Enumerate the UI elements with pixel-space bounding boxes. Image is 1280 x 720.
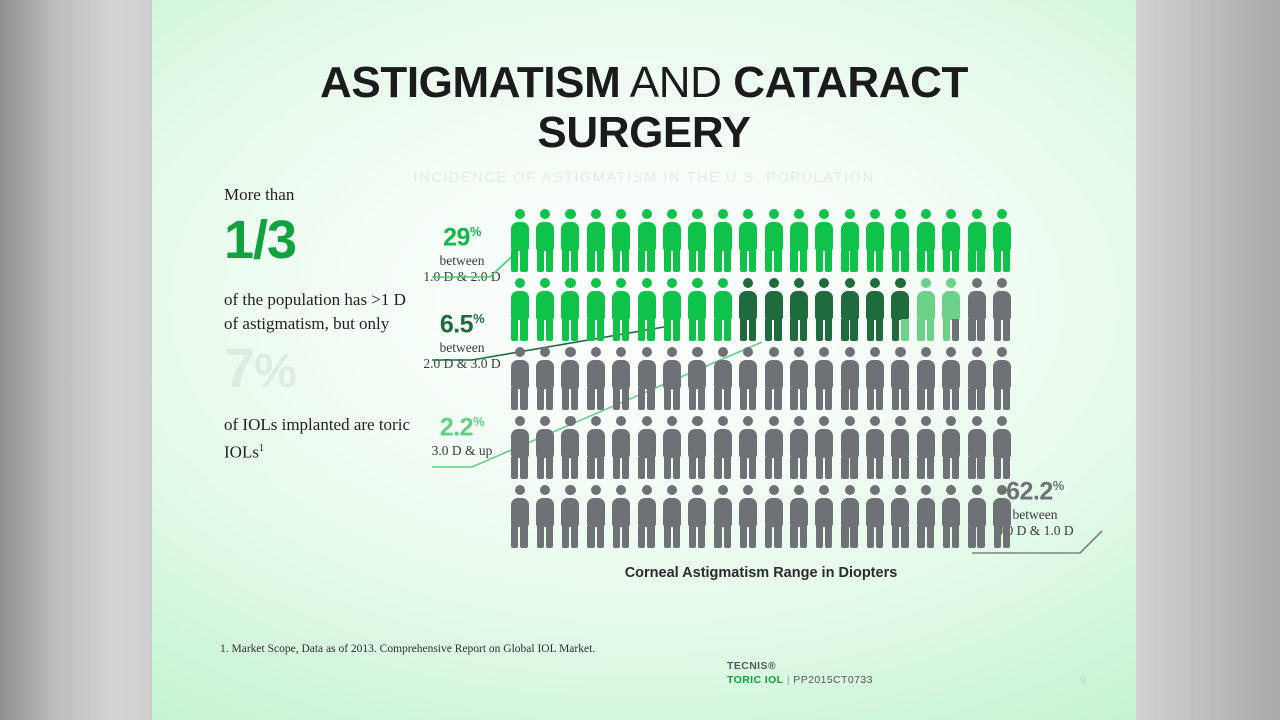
person-leg-right (825, 388, 832, 410)
person-leg-left (664, 388, 671, 410)
person-body (765, 222, 783, 251)
person-leg-right (597, 250, 604, 272)
person-body (536, 498, 554, 527)
person-leg-right (825, 526, 832, 548)
person-head (769, 416, 779, 426)
person-leg-right (749, 250, 756, 272)
person-leg-right (749, 457, 756, 479)
person-leg-right (673, 526, 680, 548)
person-body (841, 360, 859, 389)
person-body (790, 498, 808, 527)
person-head (743, 416, 753, 426)
person-head (591, 209, 601, 219)
person-body (917, 498, 935, 527)
person-leg-left (994, 250, 1001, 272)
person-leg-left (917, 526, 924, 548)
person-leg-right (876, 388, 883, 410)
person-leg-right (698, 250, 705, 272)
person-leg-left (943, 250, 950, 272)
person-body (638, 222, 656, 251)
person-leg-right (901, 457, 908, 479)
person-head (591, 347, 601, 357)
person-leg-left (740, 388, 747, 410)
person-body (866, 222, 884, 251)
person-leg-right (774, 250, 781, 272)
person-leg-left (714, 526, 721, 548)
person-leg-left (638, 319, 645, 341)
person-head (667, 347, 677, 357)
person-head (642, 347, 652, 357)
person-head (667, 209, 677, 219)
person-body (511, 498, 529, 527)
person-leg-right (952, 388, 959, 410)
person-leg-right (597, 457, 604, 479)
person-body (866, 360, 884, 389)
person-leg-left (867, 526, 874, 548)
person-body (815, 291, 833, 320)
person-head (540, 278, 550, 288)
person-leg-right (520, 457, 527, 479)
person-body (663, 360, 681, 389)
person-body (612, 360, 630, 389)
person-head (946, 485, 956, 495)
person-icon (583, 343, 608, 412)
person-head (921, 416, 931, 426)
person-leg-right (724, 388, 731, 410)
person-head (565, 278, 575, 288)
person-icon (888, 481, 913, 550)
person-leg-right (774, 388, 781, 410)
person-leg-left (867, 457, 874, 479)
person-leg-right (571, 457, 578, 479)
person-leg-left (968, 457, 975, 479)
person-body (942, 291, 960, 320)
person-leg-right (876, 526, 883, 548)
brand-toric-iol: TORIC IOL (727, 674, 784, 686)
person-leg-right (673, 319, 680, 341)
person-icon (786, 412, 811, 481)
letterbox-left (0, 0, 152, 720)
person-head (616, 278, 626, 288)
person-icon (685, 412, 710, 481)
title-line-1: ASTIGMATISM AND CATARACT (152, 58, 1136, 108)
person-leg-left (892, 457, 899, 479)
person-leg-left (892, 250, 899, 272)
person-icon (964, 343, 989, 412)
footnote-marker: 1 (259, 443, 264, 454)
person-leg-right (927, 457, 934, 479)
person-body (891, 222, 909, 251)
person-head (565, 485, 575, 495)
person-body (841, 222, 859, 251)
person-icon (609, 481, 634, 550)
person-leg-left (816, 250, 823, 272)
person-body (663, 498, 681, 527)
person-icon (685, 481, 710, 550)
person-leg-left (968, 526, 975, 548)
person-head (946, 209, 956, 219)
person-head (718, 416, 728, 426)
person-icon (532, 412, 557, 481)
person-leg-left (994, 526, 1001, 548)
slide-title: ASTIGMATISM AND CATARACT SURGERY (152, 58, 1136, 158)
person-leg-right (800, 319, 807, 341)
person-leg-left (867, 319, 874, 341)
person-head (667, 485, 677, 495)
person-leg-left (587, 319, 594, 341)
person-head (845, 416, 855, 426)
person-leg-right (673, 457, 680, 479)
person-leg-right (825, 250, 832, 272)
person-leg-right (774, 319, 781, 341)
person-leg-left (943, 526, 950, 548)
person-head (845, 347, 855, 357)
person-body (993, 498, 1011, 527)
person-icon (939, 205, 964, 274)
person-leg-left (790, 388, 797, 410)
person-icon (558, 205, 583, 274)
person-body (663, 429, 681, 458)
person-leg-left (740, 319, 747, 341)
person-body (714, 429, 732, 458)
person-icon (634, 205, 659, 274)
person-leg-right (774, 457, 781, 479)
person-icon (532, 481, 557, 550)
person-leg-right (901, 319, 908, 341)
person-head (921, 485, 931, 495)
person-body (612, 222, 630, 251)
person-leg-left (790, 250, 797, 272)
person-head (870, 485, 880, 495)
person-icon (964, 412, 989, 481)
person-head (616, 485, 626, 495)
person-body (739, 291, 757, 320)
person-leg-left (689, 250, 696, 272)
brand-code: PP2015CT0733 (793, 674, 873, 686)
person-head (616, 416, 626, 426)
person-leg-right (622, 388, 629, 410)
person-body (638, 498, 656, 527)
person-icon (659, 481, 684, 550)
person-leg-right (977, 526, 984, 548)
callout-65-number: 6.5 (440, 310, 473, 338)
person-icon (736, 343, 761, 412)
person-body (942, 498, 960, 527)
callout-622-symbol: % (1053, 478, 1064, 493)
callout-29-number: 29 (443, 223, 470, 251)
person-body (714, 360, 732, 389)
person-leg-right (622, 457, 629, 479)
person-icon (532, 274, 557, 343)
person-leg-right (977, 250, 984, 272)
person-icon (786, 274, 811, 343)
person-leg-left (511, 250, 518, 272)
person-body (968, 291, 986, 320)
person-leg-right (571, 319, 578, 341)
person-leg-left (689, 388, 696, 410)
person-body (638, 291, 656, 320)
person-leg-left (613, 388, 620, 410)
person-body (841, 429, 859, 458)
ghost-percent-symbol: % (254, 345, 296, 398)
person-leg-right (1003, 250, 1010, 272)
title-word-and: AND (630, 58, 722, 107)
person-leg-right (673, 388, 680, 410)
person-icon (634, 412, 659, 481)
person-head (794, 347, 804, 357)
person-head (921, 278, 931, 288)
person-body (688, 429, 706, 458)
person-body (993, 222, 1011, 251)
person-icon (583, 205, 608, 274)
person-body (511, 360, 529, 389)
person-head (895, 416, 905, 426)
person-icon (888, 343, 913, 412)
person-body (841, 291, 859, 320)
person-head (718, 347, 728, 357)
person-head (743, 347, 753, 357)
person-head (616, 347, 626, 357)
person-leg-right (546, 526, 553, 548)
person-body (587, 429, 605, 458)
person-body (561, 291, 579, 320)
person-head (946, 347, 956, 357)
person-body (993, 360, 1011, 389)
person-body (663, 291, 681, 320)
person-body (790, 429, 808, 458)
person-icon (913, 205, 938, 274)
person-body (942, 429, 960, 458)
person-head (743, 485, 753, 495)
person-icon (558, 343, 583, 412)
person-icon (761, 205, 786, 274)
person-leg-right (850, 457, 857, 479)
person-leg-left (664, 457, 671, 479)
person-leg-left (765, 526, 772, 548)
person-leg-right (952, 457, 959, 479)
person-leg-right (977, 319, 984, 341)
person-head (616, 209, 626, 219)
page-number: 9 (1080, 673, 1087, 687)
person-body (536, 291, 554, 320)
callout-29-symbol: % (470, 224, 481, 239)
person-icon (913, 343, 938, 412)
person-leg-left (740, 526, 747, 548)
person-leg-right (724, 457, 731, 479)
person-body (587, 498, 605, 527)
person-body (536, 429, 554, 458)
callout-22-number: 2.2 (440, 413, 473, 441)
person-leg-left (562, 250, 569, 272)
person-leg-left (638, 388, 645, 410)
person-leg-right (673, 250, 680, 272)
person-leg-left (917, 250, 924, 272)
person-leg-left (892, 526, 899, 548)
person-head (540, 209, 550, 219)
person-body (561, 360, 579, 389)
person-head (743, 209, 753, 219)
person-leg-right (825, 319, 832, 341)
person-body (815, 222, 833, 251)
person-leg-right (724, 319, 731, 341)
person-icon (939, 481, 964, 550)
person-leg-right (698, 526, 705, 548)
person-leg-right (977, 457, 984, 479)
person-leg-left (689, 526, 696, 548)
person-body (688, 498, 706, 527)
person-icon (989, 343, 1014, 412)
person-leg-left (765, 250, 772, 272)
person-icon (659, 412, 684, 481)
person-leg-left (917, 319, 924, 341)
person-body (638, 360, 656, 389)
person-head (515, 278, 525, 288)
person-icon (812, 481, 837, 550)
person-icon (634, 343, 659, 412)
person-icon (837, 412, 862, 481)
person-leg-right (850, 388, 857, 410)
person-icon (786, 343, 811, 412)
person-leg-left (816, 319, 823, 341)
person-head (667, 278, 677, 288)
person-head (769, 278, 779, 288)
person-head (794, 209, 804, 219)
person-head (642, 209, 652, 219)
person-body (891, 360, 909, 389)
person-body (917, 429, 935, 458)
person-head (591, 278, 601, 288)
person-leg-right (850, 319, 857, 341)
person-body (917, 291, 935, 320)
person-icon (659, 274, 684, 343)
person-leg-left (664, 526, 671, 548)
person-leg-left (689, 319, 696, 341)
person-icon (634, 274, 659, 343)
person-icon (507, 412, 532, 481)
person-body (917, 222, 935, 251)
person-icon (710, 205, 735, 274)
person-body (891, 429, 909, 458)
person-body (688, 222, 706, 251)
person-head (692, 278, 702, 288)
person-leg-left (587, 457, 594, 479)
source-footnote: 1. Market Scope, Data as of 2013. Compre… (220, 643, 595, 655)
person-leg-left (613, 250, 620, 272)
person-head (870, 347, 880, 357)
person-leg-right (1003, 457, 1010, 479)
person-leg-left (841, 319, 848, 341)
person-body (815, 429, 833, 458)
person-body (638, 429, 656, 458)
person-head (565, 347, 575, 357)
person-leg-left (714, 388, 721, 410)
person-leg-left (765, 388, 772, 410)
person-body (739, 222, 757, 251)
person-body (765, 291, 783, 320)
person-head (895, 278, 905, 288)
person-icon (710, 481, 735, 550)
person-leg-right (724, 250, 731, 272)
person-head (743, 278, 753, 288)
person-leg-right (724, 526, 731, 548)
person-icon (888, 205, 913, 274)
person-head (591, 416, 601, 426)
person-head (997, 416, 1007, 426)
person-leg-left (765, 457, 772, 479)
person-leg-right (952, 250, 959, 272)
person-leg-right (749, 526, 756, 548)
person-head (819, 278, 829, 288)
person-leg-right (800, 457, 807, 479)
person-head (972, 416, 982, 426)
person-icon (736, 481, 761, 550)
person-head (718, 209, 728, 219)
person-icon (837, 481, 862, 550)
person-head (591, 485, 601, 495)
person-body (587, 222, 605, 251)
person-leg-left (587, 526, 594, 548)
person-leg-left (562, 388, 569, 410)
letterbox-right (1136, 0, 1280, 720)
person-icon (837, 205, 862, 274)
person-leg-right (698, 319, 705, 341)
person-icon (837, 343, 862, 412)
person-leg-right (546, 319, 553, 341)
person-leg-right (647, 250, 654, 272)
person-leg-right (571, 526, 578, 548)
person-body (968, 498, 986, 527)
person-body (612, 429, 630, 458)
person-icon (583, 481, 608, 550)
population-paragraph: of the population has >1 D of astigmatis… (224, 288, 424, 335)
person-head (692, 485, 702, 495)
person-icon (761, 343, 786, 412)
person-body (790, 222, 808, 251)
person-leg-left (917, 388, 924, 410)
person-leg-right (622, 526, 629, 548)
person-body (968, 360, 986, 389)
person-icon (989, 412, 1014, 481)
person-head (667, 416, 677, 426)
person-leg-left (511, 457, 518, 479)
person-leg-left (816, 526, 823, 548)
person-icon (964, 274, 989, 343)
person-body (891, 291, 909, 320)
person-leg-left (562, 526, 569, 548)
person-body (739, 498, 757, 527)
person-leg-left (994, 457, 1001, 479)
person-body (688, 291, 706, 320)
person-leg-left (587, 250, 594, 272)
person-leg-left (790, 457, 797, 479)
person-head (769, 209, 779, 219)
person-leg-left (816, 457, 823, 479)
callout-22-symbol: % (473, 414, 484, 429)
person-body (714, 222, 732, 251)
person-body (942, 360, 960, 389)
person-head (794, 485, 804, 495)
person-icon (939, 343, 964, 412)
person-icon (710, 343, 735, 412)
person-body (688, 360, 706, 389)
person-leg-right (901, 388, 908, 410)
person-leg-right (647, 388, 654, 410)
person-leg-right (749, 319, 756, 341)
person-body (536, 222, 554, 251)
person-head (540, 416, 550, 426)
person-head (972, 347, 982, 357)
person-head (870, 278, 880, 288)
